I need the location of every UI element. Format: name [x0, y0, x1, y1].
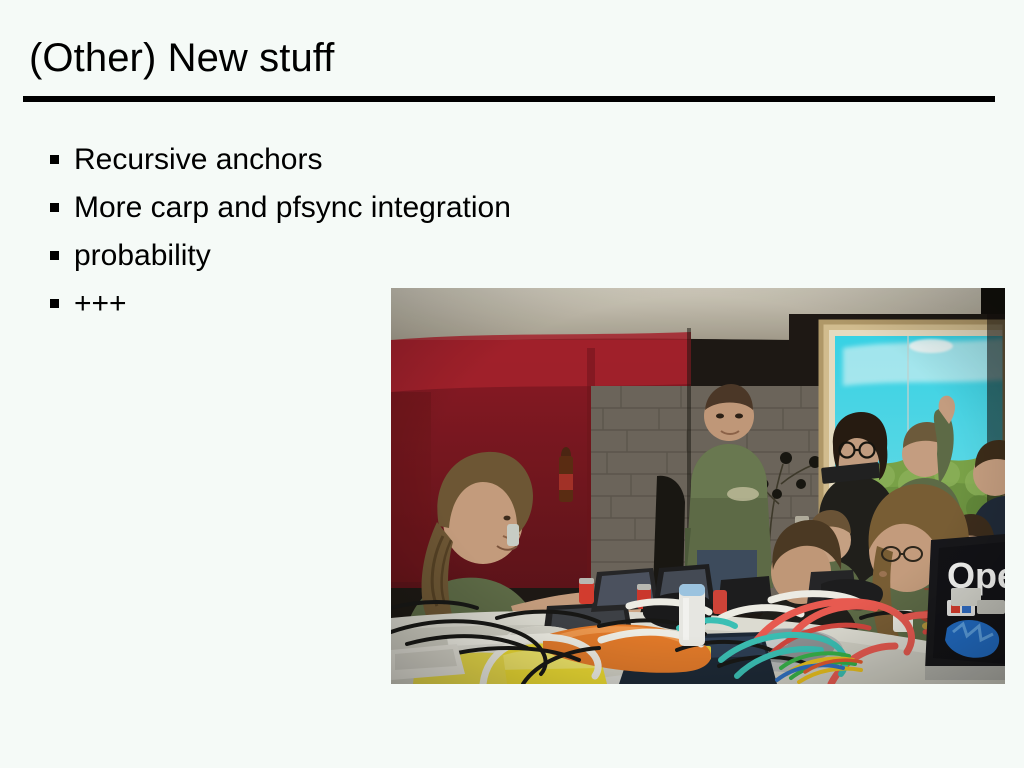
title-underline-rule [23, 96, 995, 102]
square-bullet-icon [50, 203, 59, 212]
hackathon-group-photo: Ope [391, 288, 1005, 684]
list-item-label: More carp and pfsync integration [74, 186, 511, 230]
list-item: probability [50, 234, 750, 282]
list-item: More carp and pfsync integration [50, 186, 750, 234]
square-bullet-icon [50, 155, 59, 164]
square-bullet-icon [50, 299, 59, 308]
page-title: (Other) New stuff [23, 32, 995, 84]
slide-canvas: (Other) New stuff Recursive anchors More… [0, 0, 1024, 768]
list-item-label: probability [74, 234, 211, 278]
square-bullet-icon [50, 251, 59, 260]
list-item-label: +++ [74, 282, 127, 326]
list-item: Recursive anchors [50, 138, 750, 186]
title-block: (Other) New stuff [23, 32, 995, 84]
list-item-label: Recursive anchors [74, 138, 322, 182]
